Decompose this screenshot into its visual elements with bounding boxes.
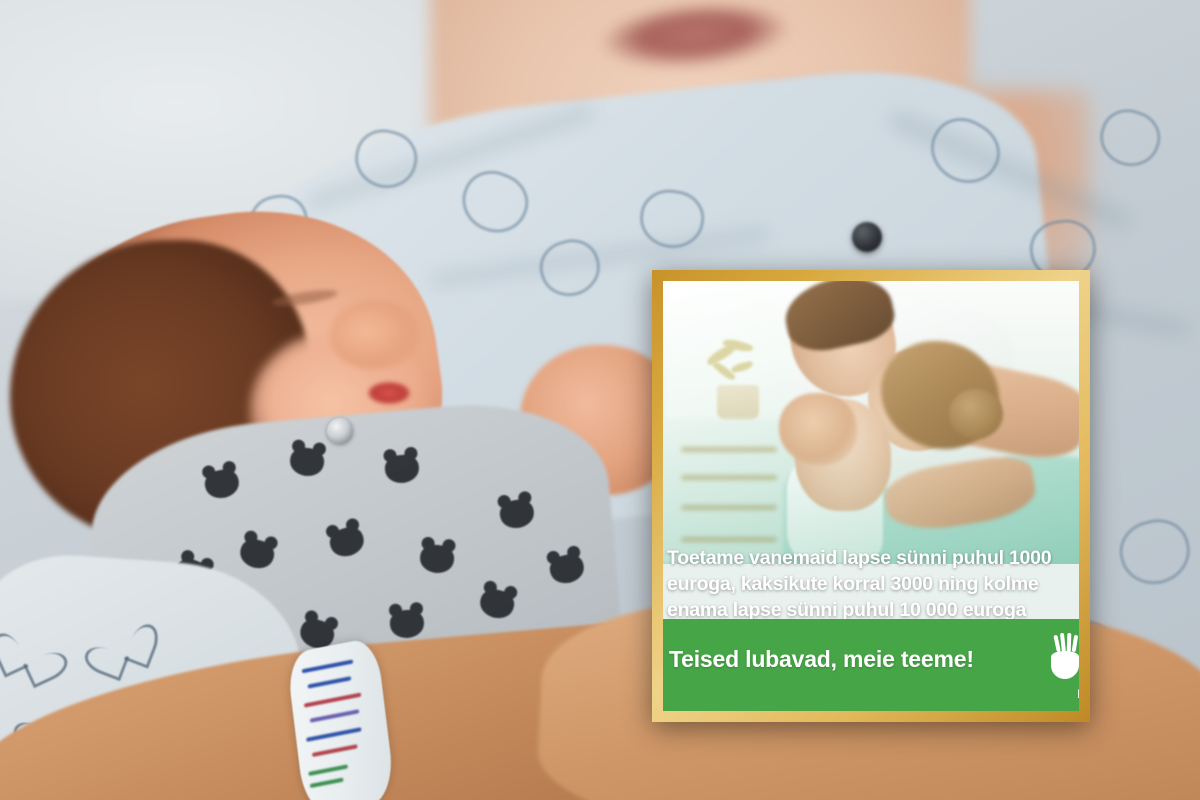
baby-nose [330, 300, 420, 370]
ad-slogan: Teised lubavad, meie teeme! [669, 646, 974, 673]
onesie-snap-button [327, 418, 353, 444]
ad-headline-line-1: Toetame vanemaid lapse sünni puhul 1000 [667, 545, 1079, 571]
ad-headline-line-2: euroga, kaksikute korral 3000 ning kolme [667, 571, 1079, 597]
gown-heart-motif [1113, 512, 1196, 591]
hand-logo-icon [1043, 633, 1079, 681]
gown-heart-motif [1093, 102, 1167, 174]
advertisement-card[interactable]: Toetame vanemaid lapse sünni puhul 1000 … [652, 270, 1090, 722]
screenshot-stage: Toetame vanemaid lapse sünni puhul 1000 … [0, 0, 1200, 800]
gown-button [852, 222, 882, 252]
ad-party-name: Ke [1077, 687, 1079, 701]
photo-tint-overlay [663, 281, 1079, 564]
ad-headline: Toetame vanemaid lapse sünni puhul 1000 … [663, 543, 1079, 629]
ad-green-banner: Teised lubavad, meie teeme! Ke [663, 619, 1079, 711]
ad-family-photo [663, 281, 1079, 564]
baby-lips [368, 382, 410, 404]
advertisement-inner: Toetame vanemaid lapse sünni puhul 1000 … [663, 281, 1079, 711]
